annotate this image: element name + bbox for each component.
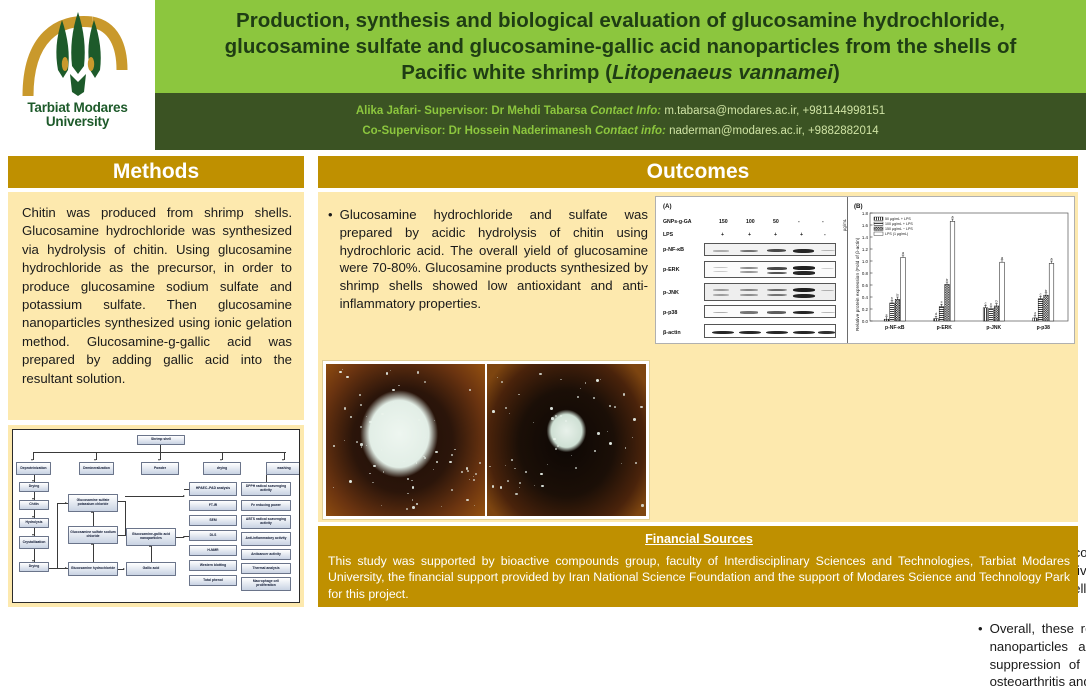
flow-connector — [125, 496, 184, 497]
blot-band — [821, 312, 835, 313]
powder-speck — [621, 463, 622, 464]
powder-speck — [467, 470, 469, 472]
blot-band — [767, 249, 786, 252]
powder-speck — [383, 471, 384, 472]
powder-speck — [534, 485, 535, 486]
powder-speck — [632, 437, 634, 439]
tulip-arch-logo-icon — [18, 8, 138, 100]
powder-speck — [360, 426, 361, 427]
bullet-marker: • — [978, 620, 983, 691]
flow-connector — [125, 501, 126, 535]
powder-speck — [339, 371, 342, 374]
svg-text:b: b — [946, 278, 948, 282]
blot-target-0: p-NF-κB — [663, 247, 684, 253]
treatment-value-3: - — [798, 219, 800, 225]
university-logo: Tarbiat Modares University — [0, 0, 155, 150]
svg-text:0.4: 0.4 — [862, 295, 869, 300]
flow-node-analysis2-6: Macrophage cell proliferation — [241, 577, 291, 591]
svg-text:c: c — [985, 301, 987, 305]
svg-text:a: a — [952, 215, 954, 219]
blot-band — [793, 271, 815, 275]
lps-value-1: + — [748, 232, 751, 238]
blot-band — [713, 294, 729, 296]
svg-text:p-JNK: p-JNK — [986, 325, 1001, 331]
powder-speck — [417, 371, 419, 373]
powder-speck — [333, 487, 335, 489]
financial-sources-text: This study was supported by bioactive co… — [328, 553, 1070, 602]
powder-speck — [418, 419, 420, 421]
title-line-3-post: ) — [833, 61, 840, 84]
flow-node-center-3: Glucosamine-gallic acid nanoparticles — [126, 528, 176, 546]
blot-lane-row-1 — [704, 261, 836, 278]
powder-speck — [342, 369, 343, 370]
powder-speck — [344, 407, 346, 409]
panel-b-label: (B) — [854, 203, 863, 210]
cosupervisor-label: Co-Supervisor: Dr Hossein Naderimanesh — [362, 125, 591, 137]
powder-speck — [575, 467, 577, 469]
figure-panel-b-bar-chart: (B) Relative protein expression (Fold of… — [848, 197, 1074, 343]
figure-panel-a-western-blot: (A) GNPs-g-GA 150 100 50 - - µg/mL LPS +… — [656, 197, 848, 343]
powder-speck — [593, 397, 595, 399]
powder-speck — [515, 493, 517, 495]
powder-speck — [436, 461, 439, 464]
flow-connector — [93, 544, 94, 562]
flow-node-center-1: Glucosamine sulfate sodium chloride — [68, 526, 118, 544]
treatment-value-1: 100 — [746, 219, 755, 225]
powder-speck — [411, 480, 412, 481]
powder-speck — [625, 447, 627, 449]
powder-speck — [435, 451, 438, 454]
flow-arrow-icon — [158, 459, 160, 461]
powder-speck — [492, 485, 495, 488]
blot-band — [713, 250, 729, 252]
flow-node-root: Shrimp shell — [137, 435, 185, 445]
blot-target-1: p-ERK — [663, 267, 679, 273]
author-line-cosupervisor: Co-Supervisor: Dr Hossein Naderimanesh C… — [362, 125, 878, 138]
contact-info-value[interactable]: m.tabarsa@modares.ac.ir, +981144998151 — [664, 105, 885, 117]
powder-speck — [489, 466, 490, 467]
powder-speck — [411, 405, 412, 406]
blot-band — [821, 268, 834, 269]
flow-node-analysis1-4: H-NMR — [189, 545, 237, 556]
treatment-row-label: GNPs-g-GA — [663, 219, 692, 225]
powder-speck — [397, 419, 400, 422]
powder-speck — [349, 480, 352, 483]
sample-photographs — [322, 360, 650, 520]
y-axis-label: Relative protein expression (Fold of β-a… — [855, 238, 860, 331]
powder-speck — [641, 504, 643, 506]
powder-speck — [555, 448, 557, 450]
lps-value-3: + — [800, 232, 803, 238]
powder-speck — [356, 441, 358, 443]
flow-arrow-icon — [32, 498, 34, 500]
lps-value-2: + — [774, 232, 777, 238]
flow-arrow-icon — [65, 567, 67, 569]
powder-speck — [518, 394, 520, 396]
svg-text:1.8: 1.8 — [862, 211, 869, 216]
blot-band — [713, 271, 728, 272]
blot-band — [793, 331, 815, 334]
svg-text:50 µg/mL + LPS: 50 µg/mL + LPS — [885, 217, 911, 221]
methods-section-header: Methods — [8, 156, 304, 188]
flow-node-analysis1-5: Western blotting — [189, 560, 237, 571]
blot-band — [713, 289, 729, 291]
powder-speck — [497, 377, 498, 378]
powder-speck — [540, 473, 543, 476]
blot-lane-row-3 — [704, 305, 836, 318]
powder-speck — [369, 421, 372, 424]
powder-speck — [392, 389, 395, 392]
svg-text:a: a — [1001, 256, 1003, 260]
svg-text:1.2: 1.2 — [862, 247, 869, 252]
powder-speck — [507, 480, 509, 482]
title-line-2: glucosamine sulfate and glucosamine-gall… — [225, 34, 1017, 60]
svg-text:b: b — [897, 293, 899, 297]
svg-text:b: b — [1045, 289, 1047, 293]
blot-lane-row-2 — [704, 283, 836, 301]
svg-text:1.0: 1.0 — [862, 259, 869, 264]
powder-speck — [511, 459, 513, 461]
blot-band — [713, 267, 728, 268]
powder-speck — [424, 457, 426, 459]
powder-speck — [359, 394, 361, 396]
flow-node-analysis2-0: DPPH radical scavenging activity — [241, 482, 291, 496]
flow-connector — [184, 536, 189, 537]
flow-arrow-icon — [282, 459, 284, 461]
powder-speck — [609, 405, 611, 407]
powder-speck — [585, 382, 586, 383]
blot-band — [793, 311, 814, 314]
species-name: Litopenaeus vannamei — [612, 61, 833, 84]
powder-speck — [369, 473, 371, 475]
outcomes-section-header: Outcomes — [318, 156, 1078, 188]
powder-speck — [600, 379, 601, 380]
powder-speck — [393, 402, 394, 403]
powder-speck — [433, 469, 434, 470]
svg-text:c: c — [941, 300, 943, 304]
lps-value-0: + — [721, 232, 724, 238]
powder-speck — [441, 506, 442, 507]
powder-speck — [596, 379, 599, 382]
powder-speck — [412, 486, 415, 489]
title-line-3: Pacific white shrimp (Litopenaeus vannam… — [225, 60, 1017, 86]
svg-text:c: c — [886, 313, 888, 317]
powder-speck — [635, 462, 637, 464]
powder-speck — [424, 381, 425, 382]
powder-speck — [539, 373, 541, 375]
powder-speck — [386, 372, 389, 375]
powder-speck — [381, 505, 382, 506]
powder-speck — [407, 493, 408, 494]
lps-value-4: - — [824, 232, 826, 238]
powder-speck — [454, 449, 456, 451]
powder-speck — [469, 479, 470, 480]
title-line-3-pre: Pacific white shrimp ( — [401, 61, 612, 84]
flow-connector — [266, 475, 267, 482]
flow-node-center-0: Glucosamine sulfate potassium chloride — [68, 494, 118, 512]
flow-node-top-4: washing — [266, 462, 300, 475]
flow-arrow-icon — [94, 459, 96, 461]
svg-text:0.0: 0.0 — [862, 319, 869, 324]
flow-arrow-icon — [220, 459, 222, 461]
flow-node-left-4: Drying — [19, 562, 49, 572]
svg-text:p-p38: p-p38 — [1037, 325, 1051, 331]
panel-a-label: (A) — [663, 203, 672, 210]
outcomes-bullet-3: • Overall, these results suggested that … — [978, 620, 1086, 691]
powder-speck — [554, 438, 556, 440]
powder-speck — [366, 445, 368, 447]
blot-lane-row-0 — [704, 243, 836, 256]
flow-node-analysis2-5: Thermal analysis — [241, 563, 291, 574]
powder-speck — [346, 376, 349, 379]
photo-nanoparticle-powder — [487, 364, 646, 516]
flow-node-top-1: Demineralization — [79, 462, 114, 475]
svg-text:a: a — [1051, 257, 1053, 261]
blot-band — [740, 294, 758, 296]
powder-speck — [466, 499, 468, 501]
blot-target-3: p-p38 — [663, 310, 677, 316]
blot-band — [739, 331, 761, 334]
page-title: Production, synthesis and biological eva… — [217, 8, 1025, 86]
blot-band — [821, 290, 834, 291]
svg-text:b: b — [996, 300, 998, 304]
svg-text:1.4: 1.4 — [862, 235, 869, 240]
methods-heading-label: Methods — [113, 160, 199, 184]
financial-sources-heading: Financial Sources — [328, 532, 1070, 546]
supervisor-label: - Supervisor: Dr Mehdi Tabarsa — [417, 105, 587, 117]
powder-speck — [372, 482, 373, 483]
svg-text:LPS (1 µg/mL): LPS (1 µg/mL) — [885, 232, 908, 236]
author-name: Alika Jafari — [356, 105, 417, 117]
contact-info-label: Contact Info: — [590, 105, 661, 117]
blot-band — [766, 331, 788, 334]
blot-band — [767, 289, 787, 291]
blot-target-4: β-actin — [663, 330, 681, 336]
flow-node-left-2: Hydrolysis — [19, 518, 49, 528]
flow-arrow-icon — [31, 459, 33, 461]
powder-speck — [500, 486, 503, 489]
powder-speck — [614, 406, 616, 408]
logo-line-2: University — [27, 115, 127, 129]
blot-target-2: p-JNK — [663, 290, 679, 296]
svg-text:0.2: 0.2 — [862, 307, 869, 312]
flow-node-analysis1-0: HPAEC–PAD analysis — [189, 482, 237, 496]
powder-speck — [461, 471, 463, 473]
blot-band — [793, 294, 815, 298]
blot-band — [767, 267, 787, 270]
outcomes-bullet-1-text: Glucosamine hydrochloride and sulfate wa… — [340, 206, 648, 313]
flow-node-analysis1-3: DLS — [189, 530, 237, 541]
powder-speck — [597, 432, 600, 435]
logo-wordmark: Tarbiat Modares University — [27, 101, 127, 128]
authors-band: Alika Jafari- Supervisor: Dr Mehdi Tabar… — [155, 93, 1086, 150]
powder-speck — [560, 379, 561, 380]
blot-band — [713, 312, 728, 313]
powder-speck — [390, 370, 391, 371]
blot-band — [740, 311, 758, 313]
svg-text:1.6: 1.6 — [862, 223, 869, 228]
powder-speck — [412, 499, 413, 500]
flow-node-left-0: Drying — [19, 482, 49, 492]
powder-speck — [580, 388, 581, 389]
flow-arrow-icon — [183, 495, 185, 497]
blot-band — [818, 331, 835, 334]
author-line-primary: Alika Jafari- Supervisor: Dr Mehdi Tabar… — [356, 105, 885, 118]
methods-panel: Chitin was produced from shrimp shells. … — [8, 192, 304, 420]
powder-speck — [451, 454, 453, 456]
powder-speck — [385, 431, 386, 432]
flow-connector — [151, 546, 152, 562]
powder-speck — [412, 506, 415, 509]
powder-speck — [551, 417, 554, 420]
blot-band — [767, 311, 786, 313]
outcomes-bullet-3-text: Overall, these results suggested that th… — [990, 620, 1086, 691]
methods-paragraph: Chitin was produced from shrimp shells. … — [22, 204, 292, 388]
flow-node-analysis2-3: Anti-inflammatory activity — [241, 532, 291, 546]
flow-connector — [118, 535, 126, 536]
flow-arrow-icon — [32, 534, 34, 536]
powder-speck — [360, 404, 362, 406]
powder-speck — [469, 389, 471, 391]
results-figure: (A) GNPs-g-GA 150 100 50 - - µg/mL LPS +… — [655, 196, 1075, 344]
title-line-1: Production, synthesis and biological eva… — [225, 8, 1017, 34]
powder-speck — [541, 485, 544, 488]
flow-node-analysis2-2: ABTS radical scavenging activity — [241, 515, 291, 529]
powder-speck — [406, 508, 407, 509]
flow-node-analysis2-1: Fe reducing power — [241, 500, 291, 511]
blot-lane-row-4 — [704, 324, 836, 338]
powder-speck — [519, 487, 520, 488]
powder-speck — [451, 489, 453, 491]
flow-node-center-4: Gallic acid — [126, 562, 176, 576]
powder-speck — [505, 465, 506, 466]
powder-speck — [366, 416, 367, 417]
powder-speck — [403, 431, 405, 433]
powder-speck — [473, 476, 474, 477]
powder-speck — [407, 478, 409, 480]
logo-line-1: Tarbiat Modares — [27, 101, 127, 115]
poster-header: Tarbiat Modares University Production, s… — [0, 0, 1086, 150]
svg-text:p-NF-κB: p-NF-κB — [885, 325, 905, 331]
powder-speck — [350, 416, 353, 419]
powder-speck — [381, 413, 384, 416]
svg-text:c: c — [1040, 292, 1042, 296]
powder-speck — [509, 413, 510, 414]
powder-speck — [533, 422, 534, 423]
powder-speck — [403, 461, 404, 462]
financial-sources-panel: Financial Sources This study was support… — [318, 526, 1078, 607]
powder-speck — [519, 482, 521, 484]
flow-node-analysis2-4: Anticancer activity — [241, 549, 291, 560]
powder-speck — [514, 468, 515, 469]
outcomes-bullet-1: • Glucosamine hydrochloride and sulfate … — [328, 206, 648, 313]
flow-node-top-0: Deproteinization — [16, 462, 51, 475]
powder-speck — [557, 445, 559, 447]
powder-speck — [434, 420, 435, 421]
powder-speck — [555, 415, 557, 417]
blot-band — [793, 266, 815, 270]
blot-band — [793, 249, 814, 253]
powder-speck — [560, 415, 562, 417]
svg-text:p-ERK: p-ERK — [937, 325, 953, 331]
flowchart-panel: Shrimp shell Deproteinization Deminerali… — [8, 425, 304, 607]
flow-node-left-1: Chitin — [19, 500, 49, 510]
powder-speck — [547, 464, 548, 465]
powder-speck — [474, 505, 475, 506]
bar-chart-svg: 0.00.20.40.60.81.01.21.41.61.8cbbap-NF-κ… — [848, 197, 1074, 345]
flow-arrow-icon — [65, 502, 67, 504]
powder-speck — [571, 455, 572, 456]
flow-arrow-icon — [32, 560, 34, 562]
powder-speck — [475, 473, 477, 475]
units-note: µg/mL — [842, 219, 847, 231]
blot-band — [712, 331, 734, 334]
svg-text:0.8: 0.8 — [862, 271, 869, 276]
lps-row-label: LPS — [663, 232, 673, 238]
powder-speck — [492, 410, 495, 413]
powder-speck — [640, 406, 642, 408]
powder-speck — [398, 385, 399, 386]
powder-speck — [623, 393, 625, 395]
flow-node-left-3: Crystallization — [19, 536, 49, 549]
flow-connector — [93, 512, 94, 526]
cosupervisor-contact-value[interactable]: naderman@modares.ac.ir, +9882882014 — [669, 125, 879, 137]
powder-speck — [633, 418, 636, 421]
poster-title-band: Production, synthesis and biological eva… — [155, 0, 1086, 93]
powder-speck — [473, 479, 475, 481]
powder-speck — [505, 407, 507, 409]
powder-speck — [550, 407, 553, 410]
svg-text:150 µg/mL − LPS: 150 µg/mL − LPS — [885, 227, 913, 231]
powder-speck — [449, 461, 452, 464]
treatment-value-2: 50 — [773, 219, 779, 225]
treatment-value-0: 150 — [719, 219, 728, 225]
powder-speck — [333, 445, 336, 448]
flow-node-analysis1-6: Total phenol — [189, 575, 237, 586]
powder-speck — [479, 462, 481, 464]
treatment-value-4: - — [822, 219, 824, 225]
blot-band — [740, 271, 758, 273]
svg-text:d: d — [1034, 312, 1036, 316]
powder-speck — [416, 462, 418, 464]
powder-speck — [609, 442, 612, 445]
flow-node-analysis1-1: FT-IR — [189, 500, 237, 511]
svg-text:0.6: 0.6 — [862, 283, 869, 288]
blot-band — [767, 272, 787, 275]
blot-band — [740, 250, 758, 252]
svg-text:b: b — [891, 297, 893, 301]
blot-band — [821, 250, 835, 251]
flow-node-top-3: drying — [203, 462, 241, 475]
flow-arrow-icon — [32, 516, 34, 518]
svg-text:a: a — [902, 251, 904, 255]
powder-speck — [607, 431, 608, 432]
flow-node-center-2: Glucosamine hydrochloride — [68, 562, 118, 576]
blot-band — [740, 289, 758, 291]
powder-speck — [501, 381, 503, 383]
powder-speck — [361, 446, 362, 447]
cosupervisor-contact-label: Contact info: — [595, 125, 666, 137]
outcomes-heading-label: Outcomes — [647, 160, 750, 184]
flow-node-top-2: Powder — [141, 462, 179, 475]
blot-band — [767, 294, 787, 296]
flow-node-analysis1-2: SEM — [189, 515, 237, 526]
powder-speck — [373, 465, 376, 468]
powder-speck — [594, 450, 596, 452]
photo-glucosamine-powder — [326, 364, 485, 516]
powder-speck — [565, 420, 567, 422]
powder-speck — [425, 437, 426, 438]
